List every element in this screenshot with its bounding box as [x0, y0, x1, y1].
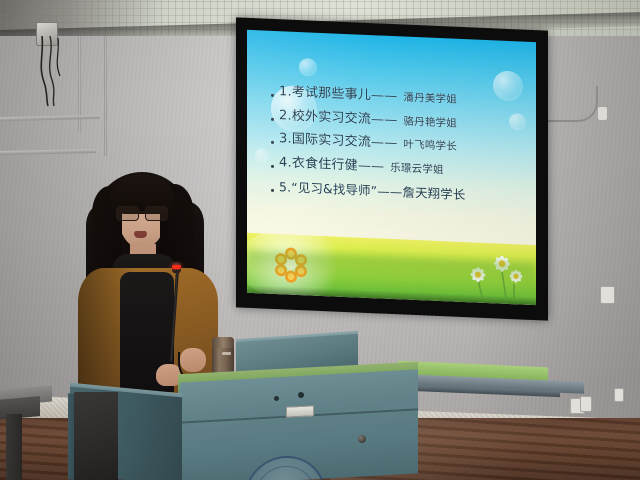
- glasses-lens-right: [145, 206, 168, 221]
- slide-item-speaker: 乐璟云学姐: [390, 159, 444, 180]
- lecture-hall-photo: 1.考试那些事儿—— 潘丹美学姐 2.校外实习交流—— 骆丹艳学姐 3.国际实习…: [0, 0, 640, 480]
- white-daisy-icon: [452, 248, 526, 299]
- emblem-ring: [254, 464, 316, 480]
- slide-item-speaker: 骆丹艳学姐: [403, 112, 457, 133]
- wire-bundle-icon: [34, 36, 70, 106]
- orange-flower-icon: [273, 246, 309, 284]
- wall-outlet[interactable]: [614, 388, 624, 402]
- glasses-bridge: [137, 211, 147, 213]
- cord-arc: [540, 86, 598, 122]
- cord-knob[interactable]: [597, 106, 608, 121]
- mouth: [134, 231, 147, 238]
- side-table-leg: [6, 414, 22, 480]
- bullet-dot-icon: [271, 165, 274, 168]
- slide-item-speaker: 潘丹美学姐: [403, 88, 457, 109]
- slide-item-topic: 2.校外实习交流——: [279, 107, 397, 131]
- projection-screen: 1.考试那些事儿—— 潘丹美学姐 2.校外实习交流—— 骆丹艳学姐 3.国际实习…: [236, 17, 548, 320]
- projected-slide: 1.考试那些事儿—— 潘丹美学姐 2.校外实习交流—— 骆丹艳学姐 3.国际实习…: [247, 30, 536, 305]
- slide-bullet-list: 1.考试那些事儿—— 潘丹美学姐 2.校外实习交流—— 骆丹艳学姐 3.国际实习…: [271, 83, 529, 211]
- slide-item-speaker: 叶飞鸣学长: [403, 136, 457, 157]
- slide-item-topic: 1.考试那些事儿——: [279, 83, 397, 107]
- slide-item-topic: 5.“见习&找导师”——詹天翔学长: [279, 178, 465, 204]
- microphone-led-indicator: [172, 265, 181, 269]
- slide-item-topic: 4.衣食住行健——: [279, 154, 384, 177]
- bullet-dot-icon: [271, 189, 274, 192]
- bubble-decoration: [299, 58, 317, 77]
- slide-item-topic: 3.国际实习交流——: [279, 131, 397, 155]
- glasses-lens-left: [116, 206, 139, 221]
- bubble-decoration: [255, 148, 269, 163]
- bullet-dot-icon: [271, 118, 274, 121]
- teaching-podium[interactable]: 校徽: [68, 330, 412, 480]
- bullet-dot-icon: [271, 94, 274, 97]
- conduit-pipe-vertical-2: [104, 36, 107, 156]
- podium-hinge: [274, 396, 279, 401]
- podium-nameplate: [286, 405, 314, 417]
- wall-outlet[interactable]: [600, 286, 615, 304]
- bullet-dot-icon: [271, 141, 274, 144]
- wall-outlet[interactable]: [580, 396, 592, 412]
- podium-hinge: [298, 392, 304, 398]
- dark-panel: [74, 392, 118, 480]
- glasses-icon: [116, 206, 168, 220]
- podium-lock-icon[interactable]: [358, 435, 366, 443]
